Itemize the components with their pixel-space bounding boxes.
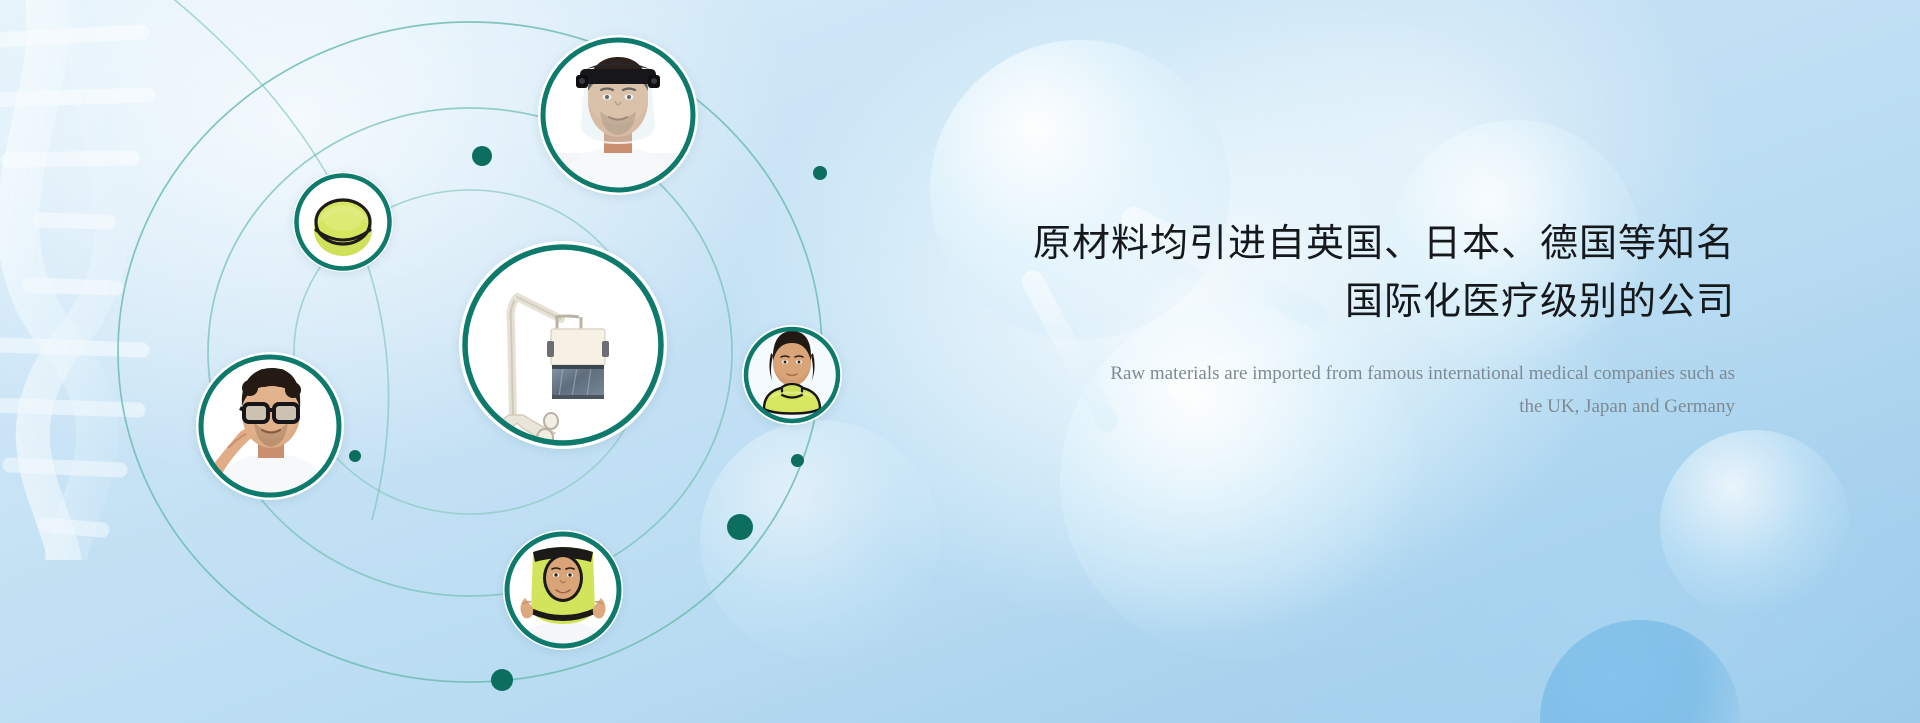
node-lead-glasses-man[interactable] <box>196 352 344 500</box>
headline-line-2: 国际化医疗级别的公司 <box>955 273 1735 331</box>
orbit-dot <box>813 166 827 180</box>
molecule-sphere-icon <box>1660 430 1850 620</box>
orbit-dot <box>791 454 804 467</box>
hero-headline: 原材料均引进自英国、日本、德国等知名 国际化医疗级别的公司 <box>955 215 1735 331</box>
subtitle-line-2: the UK, Japan and Germany <box>955 390 1735 424</box>
subtitle-line-1: Raw materials are imported from famous i… <box>955 357 1735 391</box>
orbit-dot <box>472 146 492 166</box>
headline-line-1: 原材料均引进自英国、日本、德国等知名 <box>955 215 1735 273</box>
hero-copy: 原材料均引进自英国、日本、德国等知名 国际化医疗级别的公司 Raw materi… <box>955 215 1735 424</box>
node-face-shield-man[interactable] <box>538 35 698 195</box>
orbit-dot <box>349 450 361 462</box>
hero-subtitle: Raw materials are imported from famous i… <box>955 357 1735 425</box>
node-lead-hood-woman[interactable] <box>503 530 623 650</box>
node-mobile-x-ray-shield[interactable] <box>459 241 667 449</box>
orbit-dot <box>491 669 513 691</box>
hero-banner: 原材料均引进自英国、日本、德国等知名 国际化医疗级别的公司 Raw materi… <box>0 0 1920 723</box>
orbit-dot <box>727 514 753 540</box>
node-thyroid-collar-woman[interactable] <box>742 325 842 425</box>
node-lead-cap[interactable] <box>293 172 393 272</box>
molecule-sphere-icon <box>1540 620 1740 723</box>
